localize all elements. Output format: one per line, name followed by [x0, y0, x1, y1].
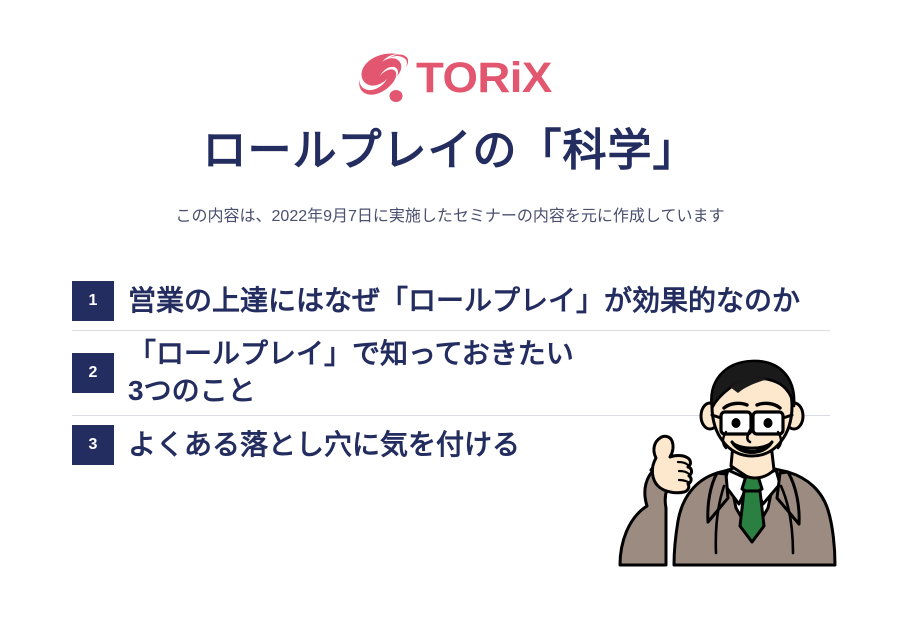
- agenda-text-2-line-2: 3つのこと: [128, 373, 574, 410]
- agenda-text-1-line-1: 営業の上達にはなぜ「ロールプレイ」が効果的なのか: [128, 283, 800, 320]
- agenda-text-3-line-1: よくある落とし穴に気を付ける: [128, 427, 520, 464]
- page-subtitle: この内容は、2022年9月7日に実施したセミナーの内容を元に作成しています: [0, 202, 900, 226]
- brand-logo: TORiX: [0, 48, 900, 108]
- agenda-text-1: 営業の上達にはなぜ「ロールプレイ」が効果的なのか: [128, 283, 800, 320]
- agenda-text-2: 「ロールプレイ」で知っておきたい 3つのこと: [128, 336, 574, 410]
- businessman-thumbs-up-illustration: [600, 358, 890, 573]
- agenda-number-badge-2: 2: [72, 353, 114, 393]
- logo-wordmark: TORiX: [416, 57, 552, 100]
- agenda-item-1: 1 営業の上達にはなぜ「ロールプレイ」が効果的なのか: [72, 272, 830, 330]
- agenda-text-2-line-1: 「ロールプレイ」で知っておきたい: [128, 336, 574, 373]
- agenda-text-3: よくある落とし穴に気を付ける: [128, 427, 520, 464]
- agenda-number-badge-3: 3: [72, 425, 114, 465]
- agenda-number-badge-1: 1: [72, 281, 114, 321]
- torix-swoosh-mark-icon: [356, 51, 418, 105]
- page-title: ロールプレイの「科学」: [0, 125, 900, 178]
